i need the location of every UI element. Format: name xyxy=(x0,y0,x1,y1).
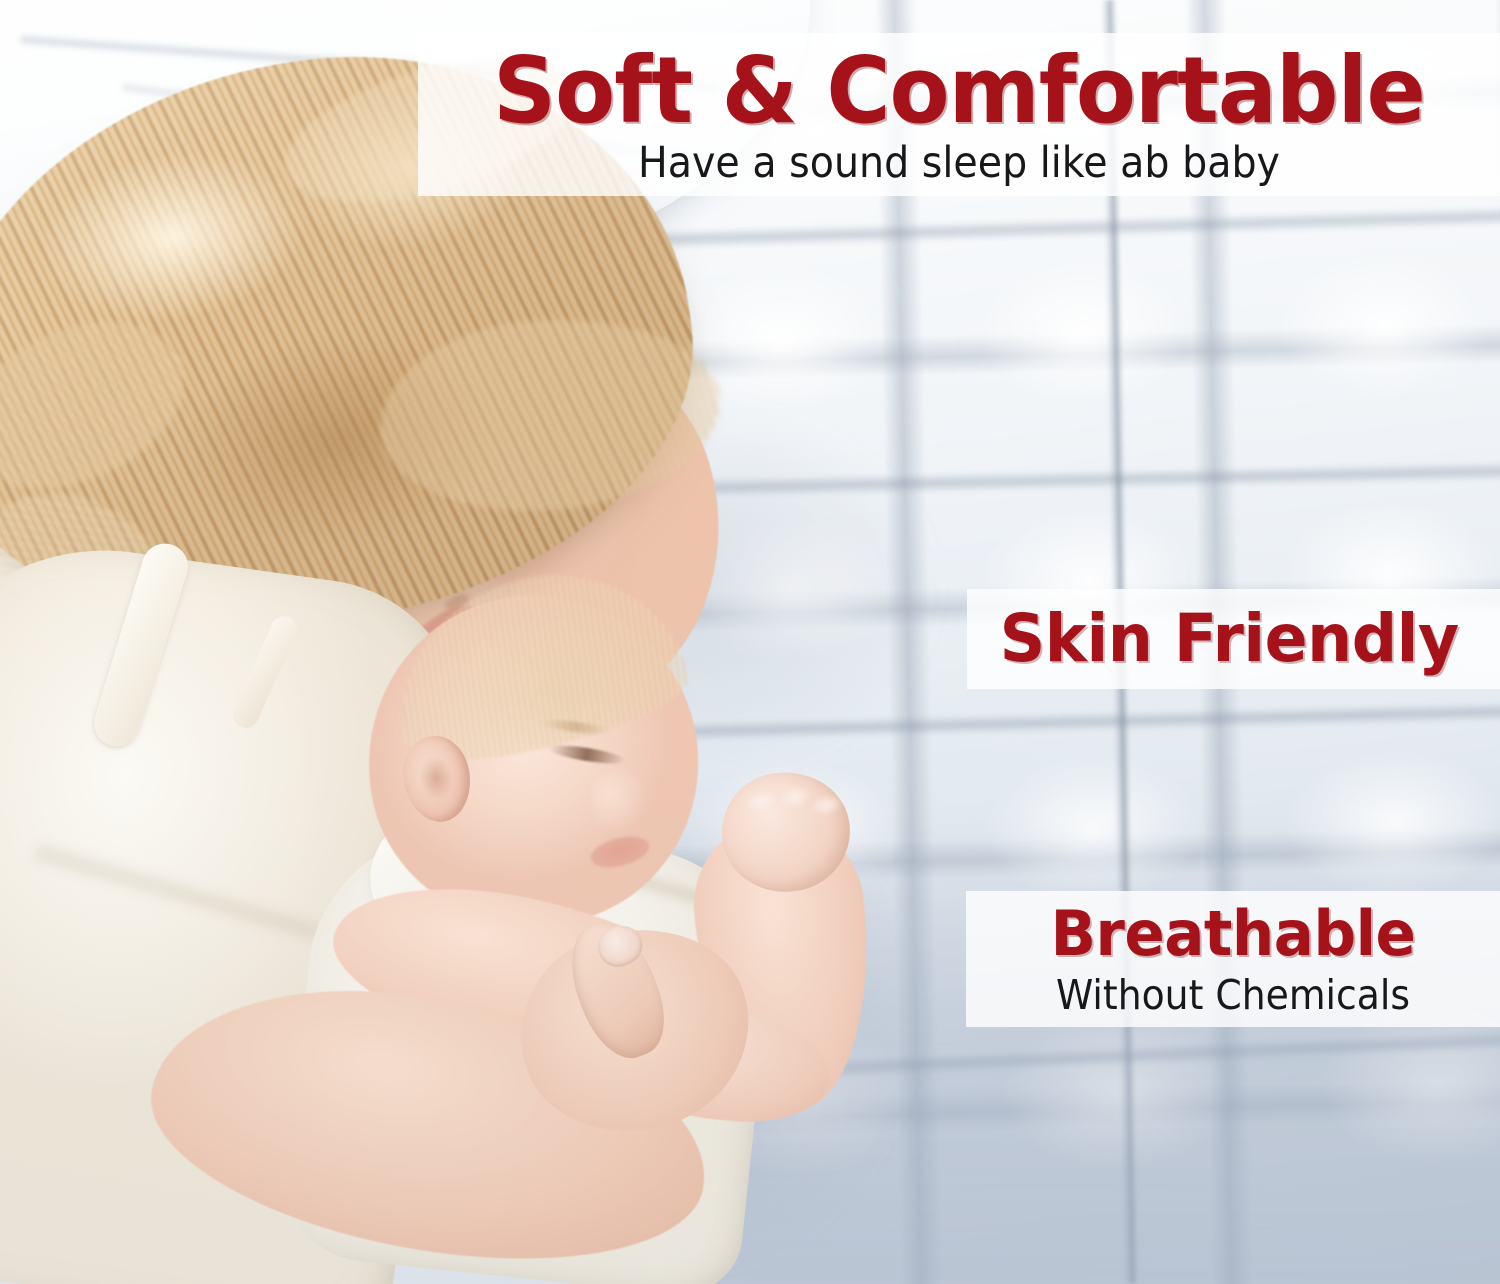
skin-friendly-headline: Skin Friendly xyxy=(967,606,1479,672)
hero-headline: Soft & Comfortable xyxy=(445,44,1473,136)
hero-text-banner: Soft & Comfortable Have a sound sleep li… xyxy=(418,33,1500,196)
breathable-banner: Breathable Without Chemicals xyxy=(966,891,1500,1027)
breathable-subheadline: Without Chemicals xyxy=(987,965,1478,1016)
breathable-headline: Breathable xyxy=(977,903,1490,965)
product-lifestyle-image: Soft & Comfortable Have a sound sleep li… xyxy=(0,0,1500,1284)
hero-subheadline: Have a sound sleep like ab baby xyxy=(461,136,1456,185)
skin-friendly-banner: Skin Friendly xyxy=(967,589,1500,689)
